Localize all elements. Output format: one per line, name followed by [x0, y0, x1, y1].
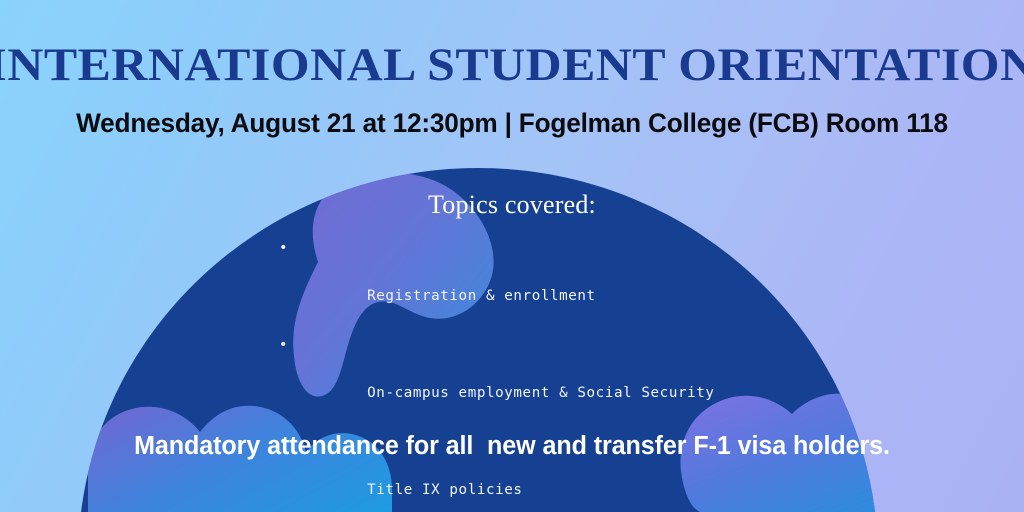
list-item-label: On-campus employment & Social Security: [367, 385, 714, 401]
bullet-dot-icon: •: [279, 236, 288, 260]
list-item: • On-campus employment & Social Security: [278, 333, 833, 430]
poster-content: INTERNATIONAL STUDENT ORIENTATION Wednes…: [0, 0, 1024, 512]
list-item-label: Title IX policies: [367, 482, 522, 498]
mandatory-attendance-note: Mandatory attendance for all new and tra…: [8, 432, 1017, 460]
list-item: • Registration & enrollment: [278, 236, 833, 333]
event-datetime-location: Wednesday, August 21 at 12:30pm | Fogelm…: [15, 110, 1008, 137]
topics-heading: Topics covered:: [0, 192, 1024, 218]
bullet-dot-icon: •: [279, 333, 288, 357]
topics-list: • Registration & enrollment • On-campus …: [278, 236, 833, 512]
list-item-label: Registration & enrollment: [367, 288, 596, 304]
page-title: INTERNATIONAL STUDENT ORIENTATION: [0, 42, 1024, 89]
poster-canvas: INTERNATIONAL STUDENT ORIENTATION Wednes…: [0, 0, 1024, 512]
